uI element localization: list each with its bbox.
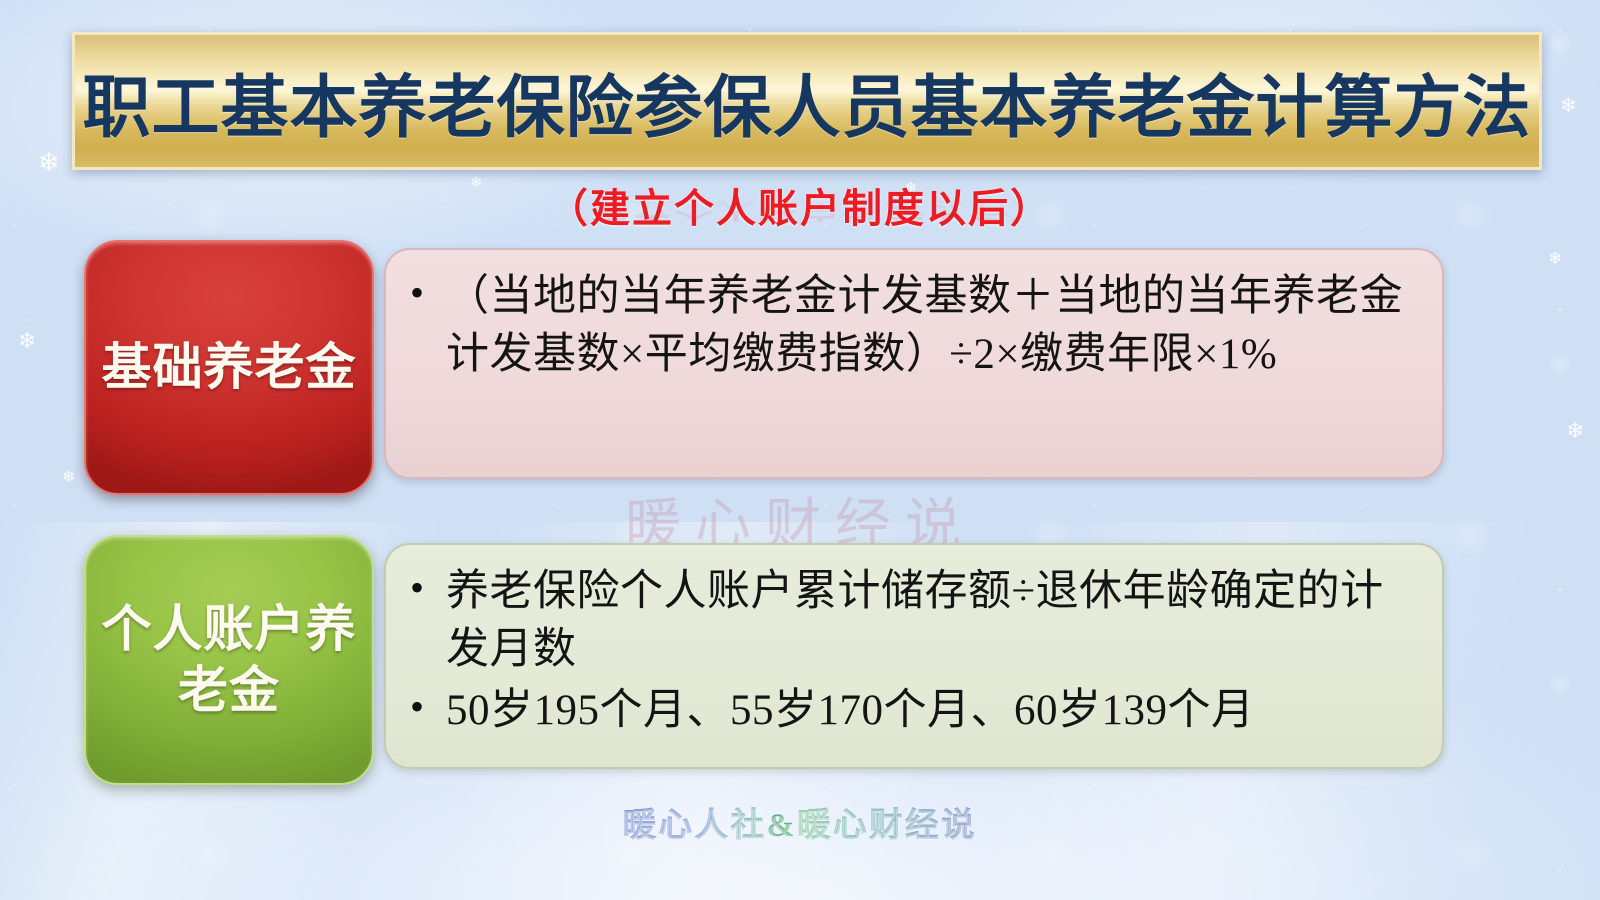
snowflake-icon: ❄ [1560,96,1577,116]
row-basic-pension: 基础养老金 （当地的当年养老金计发基数＋当地的当年养老金计发基数×平均缴费指数）… [84,240,1444,495]
label-basic-pension-text: 基础养老金 [88,337,371,398]
snowflake-icon: ❄ [1566,420,1584,442]
bullet-item: 50岁195个月、55岁170个月、60岁139个月 [400,682,1416,740]
bullet-item: （当地的当年养老金计发基数＋当地的当年养老金计发基数×平均缴费指数）÷2×缴费年… [400,268,1416,383]
snowflake-icon: ❄ [38,150,60,176]
label-box-personal-account-pension[interactable]: 个人账户养老金 [84,535,374,785]
label-personal-account-pension-text: 个人账户养老金 [86,599,372,721]
row-personal-account-pension: 个人账户养老金 养老保险个人账户累计储存额÷退休年龄确定的计发月数 50岁195… [84,535,1444,785]
content-box-basic-pension: （当地的当年养老金计发基数＋当地的当年养老金计发基数×平均缴费指数）÷2×缴费年… [384,248,1444,479]
slide-canvas: ❄ ❄ ❄ ❄ ❄ ❄ ❄ ❄ ❄ ❄ 职工基本养老保险参保人员基本养老金计算方… [0,0,1600,900]
bullet-item: 养老保险个人账户累计储存额÷退休年龄确定的计发月数 [400,563,1416,678]
snowflake-icon: ❄ [1548,250,1562,267]
snowflake-icon: ❄ [18,330,36,352]
bottom-signature-text: 暖心人社&暖心财经说 [623,798,978,846]
slide-title-bar: 职工基本养老保险参保人员基本养老金计算方法 [72,32,1542,170]
snowflake-icon: ❄ [470,176,483,191]
bullet-list-personal-account-pension: 养老保险个人账户累计储存额÷退休年龄确定的计发月数 50岁195个月、55岁17… [400,563,1416,740]
content-box-personal-account-pension: 养老保险个人账户累计储存额÷退休年龄确定的计发月数 50岁195个月、55岁17… [384,543,1444,769]
slide-subtitle: （建立个人账户制度以后） [548,176,1052,234]
snowflake-icon: ❄ [905,182,917,196]
page-title: 职工基本养老保险参保人员基本养老金计算方法 [82,52,1531,151]
bottom-signature: 暖心人社&暖心财经说 [0,798,1600,846]
slide-subtitle-reflection: （建立个人账户制度以后） [0,196,1600,228]
snowflake-icon: ❄ [62,470,75,486]
label-box-basic-pension[interactable]: 基础养老金 [84,240,374,495]
bullet-list-basic-pension: （当地的当年养老金计发基数＋当地的当年养老金计发基数×平均缴费指数）÷2×缴费年… [400,268,1416,383]
